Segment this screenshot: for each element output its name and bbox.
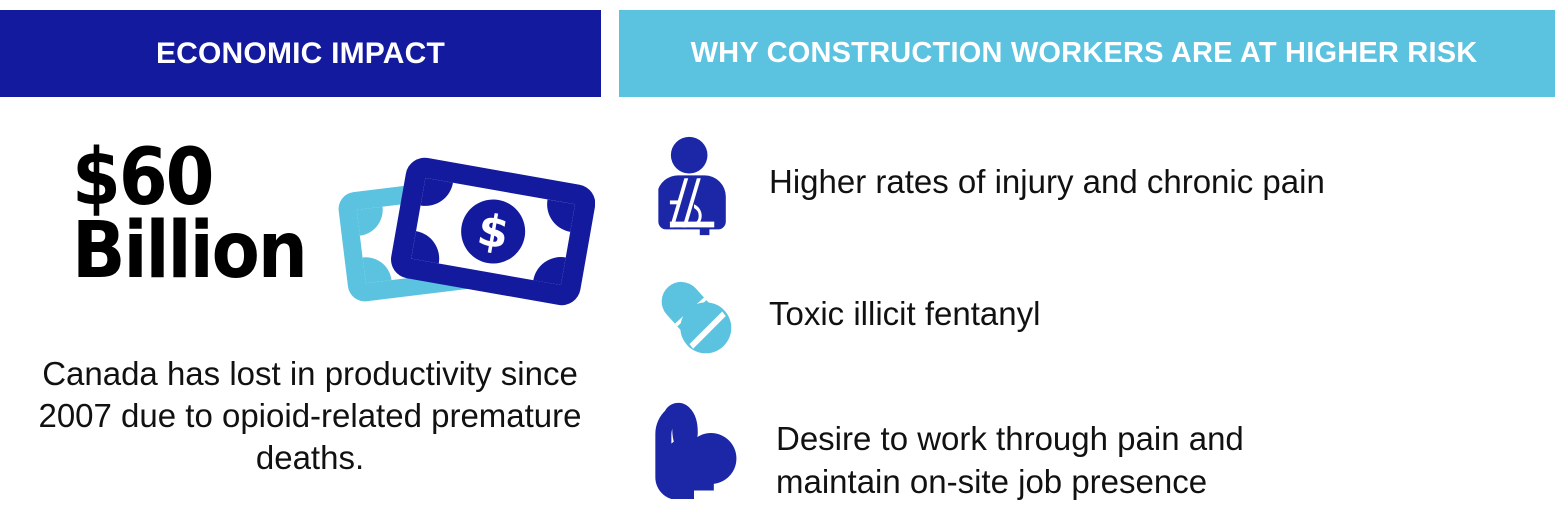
pills-capsule-icon (619, 270, 769, 362)
injured-person-arm-sling-icon (619, 133, 769, 239)
risk-item: Desire to work through pain and maintain… (619, 382, 1237, 512)
stat-amount: $60 Billion (72, 142, 342, 287)
banner-higher-risk: WHY CONSTRUCTION WORKERS ARE AT HIGHER R… (619, 10, 1555, 97)
risk-item-label: Toxic illicit fentanyl (769, 293, 1040, 336)
higher-risk-section: Higher rates of injury and chronic pain … (619, 110, 1555, 522)
banner-economic-impact-title: ECONOMIC IMPACT (156, 37, 445, 71)
risk-item: Toxic illicit fentanyl (619, 262, 1040, 370)
stat-caption: Canada has lost in productivity since 20… (30, 353, 590, 480)
risk-item: Higher rates of injury and chronic pain (619, 124, 1325, 248)
stat-row: $60 Billion $ (0, 130, 610, 330)
flexed-bicep-icon (619, 396, 769, 499)
money-banknotes-icon: $ $ (335, 136, 595, 331)
stat-amount-line-2: Billion (72, 215, 342, 288)
stat-amount-line-1: $60 (72, 142, 342, 215)
banner-economic-impact: ECONOMIC IMPACT (0, 10, 601, 97)
economic-impact-section: $60 Billion $ (0, 110, 610, 522)
risk-item-label: Desire to work through pain and maintain… (776, 418, 1244, 504)
risk-item-label: Higher rates of injury and chronic pain (769, 161, 1325, 204)
banner-higher-risk-title: WHY CONSTRUCTION WORKERS ARE AT HIGHER R… (691, 37, 1478, 70)
